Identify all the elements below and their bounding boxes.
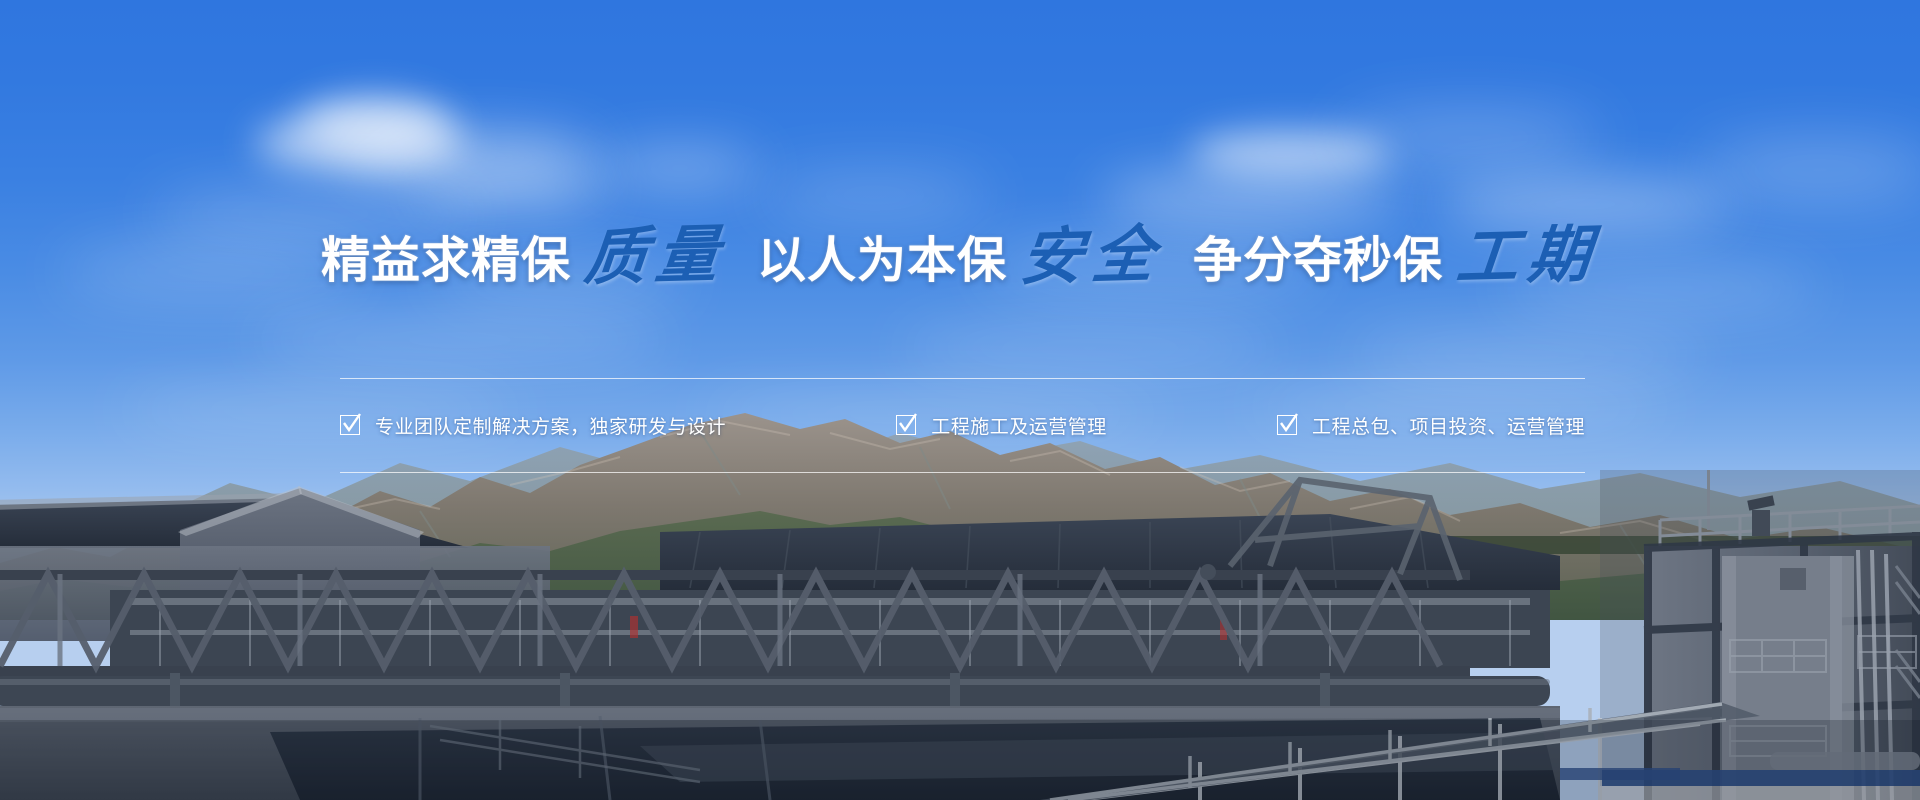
divider-top [340,378,1585,379]
headline: 精益求精保 质量 以人为本保 安全 争分夺秒保 工期 [0,208,1920,304]
checkbox-checked-icon [896,415,916,435]
feature-label-2: 工程施工及运营管理 [931,412,1107,439]
feature-item-3: 工程总包、项目投资、运营管理 [1277,412,1585,439]
checkbox-checked-icon [1277,415,1297,435]
headline-phrase-1: 精益求精保 质量 [321,221,727,292]
feature-item-1: 专业团队定制解决方案，独家研发与设计 [340,412,726,439]
feature-list: 专业团队定制解决方案，独家研发与设计 工程施工及运营管理 工程总包、项目投资、运… [340,400,1585,450]
headline-plain-3: 争分夺秒保 [1193,221,1443,292]
headline-phrase-3: 争分夺秒保 工期 [1193,221,1599,292]
hero-banner: 精益求精保 质量 以人为本保 安全 争分夺秒保 工期 专业团队定制解决方案，独家… [0,0,1920,800]
headline-callig-3: 工期 [1454,226,1602,285]
headline-plain-2: 以人为本保 [757,221,1007,292]
feature-item-2: 工程施工及运营管理 [896,412,1107,439]
headline-phrase-2: 以人为本保 安全 [757,221,1163,292]
headline-callig-2: 安全 [1018,226,1166,285]
headline-plain-1: 精益求精保 [321,221,571,292]
headline-callig-1: 质量 [582,226,730,285]
checkbox-checked-icon [340,415,360,435]
plant-ground-scene [0,470,1920,800]
divider-bottom [340,472,1585,473]
feature-label-1: 专业团队定制解决方案，独家研发与设计 [375,412,726,439]
feature-label-3: 工程总包、项目投资、运营管理 [1312,412,1585,439]
